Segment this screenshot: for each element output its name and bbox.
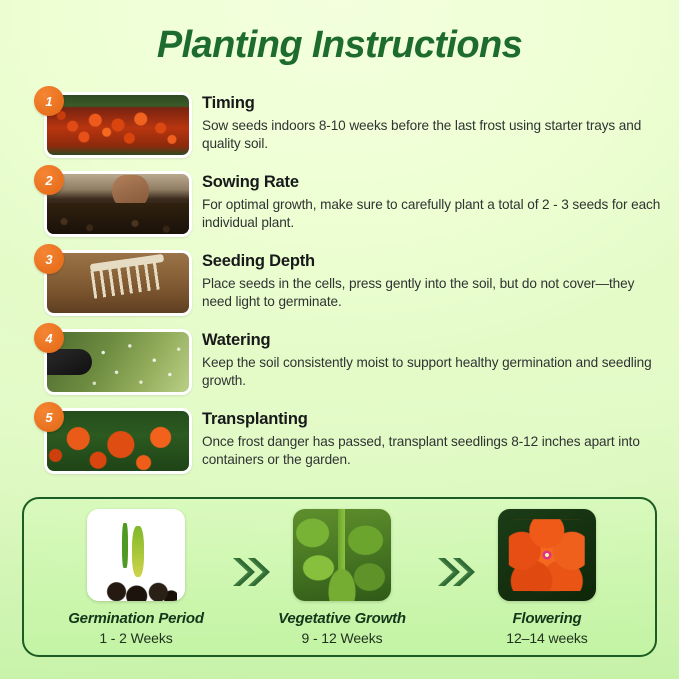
step-thumbnail — [44, 171, 192, 237]
step-number-badge: 2 — [34, 165, 64, 195]
step-text: Transplanting Once frost danger has pass… — [202, 410, 662, 470]
stage-label: Germination Period — [46, 610, 226, 627]
step-heading: Watering — [202, 331, 662, 351]
step-thumbnail — [44, 92, 192, 158]
planting-instructions-infographic: Planting Instructions 1 Timing Sow seeds… — [0, 0, 679, 679]
step-body: Place seeds in the cells, press gently i… — [202, 275, 662, 312]
watering-hose-photo — [47, 332, 189, 392]
growth-timeline-panel: Germination Period 1 - 2 Weeks Vegetativ… — [22, 497, 657, 657]
step-number-badge: 1 — [34, 86, 64, 116]
stage-duration: 9 - 12 Weeks — [252, 630, 432, 646]
step-body: For optimal growth, make sure to careful… — [202, 196, 662, 233]
steps-list: 1 Timing Sow seeds indoors 8-10 weeks be… — [0, 92, 679, 487]
step-text: Sowing Rate For optimal growth, make sur… — [202, 173, 662, 233]
stage-duration: 1 - 2 Weeks — [46, 630, 226, 646]
step-item: 3 Seeding Depth Place seeds in the cells… — [0, 250, 679, 329]
step-heading: Transplanting — [202, 410, 662, 430]
step-heading: Sowing Rate — [202, 173, 662, 193]
timeline-stage: Vegetative Growth 9 - 12 Weeks — [252, 509, 432, 646]
stage-label: Vegetative Growth — [252, 610, 432, 627]
step-item: 4 Watering Keep the soil consistently mo… — [0, 329, 679, 408]
step-thumbnail — [44, 250, 192, 316]
hand-sowing-seeds-photo — [47, 174, 189, 234]
rake-on-soil-photo — [47, 253, 189, 313]
step-text: Seeding Depth Place seeds in the cells, … — [202, 252, 662, 312]
step-thumbnail — [44, 329, 192, 395]
flower-bed-photo — [47, 95, 189, 155]
step-text: Watering Keep the soil consistently mois… — [202, 331, 662, 391]
step-item: 2 Sowing Rate For optimal growth, make s… — [0, 171, 679, 250]
step-number-badge: 5 — [34, 402, 64, 432]
stage-label: Flowering — [457, 610, 637, 627]
sprouting-seedling-photo — [87, 509, 185, 601]
step-body: Sow seeds indoors 8-10 weeks before the … — [202, 117, 662, 154]
page-title: Planting Instructions — [0, 24, 679, 67]
step-number-badge: 4 — [34, 323, 64, 353]
step-item: 1 Timing Sow seeds indoors 8-10 weeks be… — [0, 92, 679, 171]
step-text: Timing Sow seeds indoors 8-10 weeks befo… — [202, 94, 662, 154]
transplanted-flowers-photo — [47, 411, 189, 471]
step-body: Once frost danger has passed, transplant… — [202, 433, 662, 470]
step-body: Keep the soil consistently moist to supp… — [202, 354, 662, 391]
stage-duration: 12–14 weeks — [457, 630, 637, 646]
leafy-plant-photo — [293, 509, 391, 601]
timeline-stage: Germination Period 1 - 2 Weeks — [46, 509, 226, 646]
step-number-badge: 3 — [34, 244, 64, 274]
step-heading: Seeding Depth — [202, 252, 662, 272]
step-thumbnail — [44, 408, 192, 474]
step-item: 5 Transplanting Once frost danger has pa… — [0, 408, 679, 487]
step-heading: Timing — [202, 94, 662, 114]
orange-flower-photo — [498, 509, 596, 601]
timeline-stage: Flowering 12–14 weeks — [457, 509, 637, 646]
